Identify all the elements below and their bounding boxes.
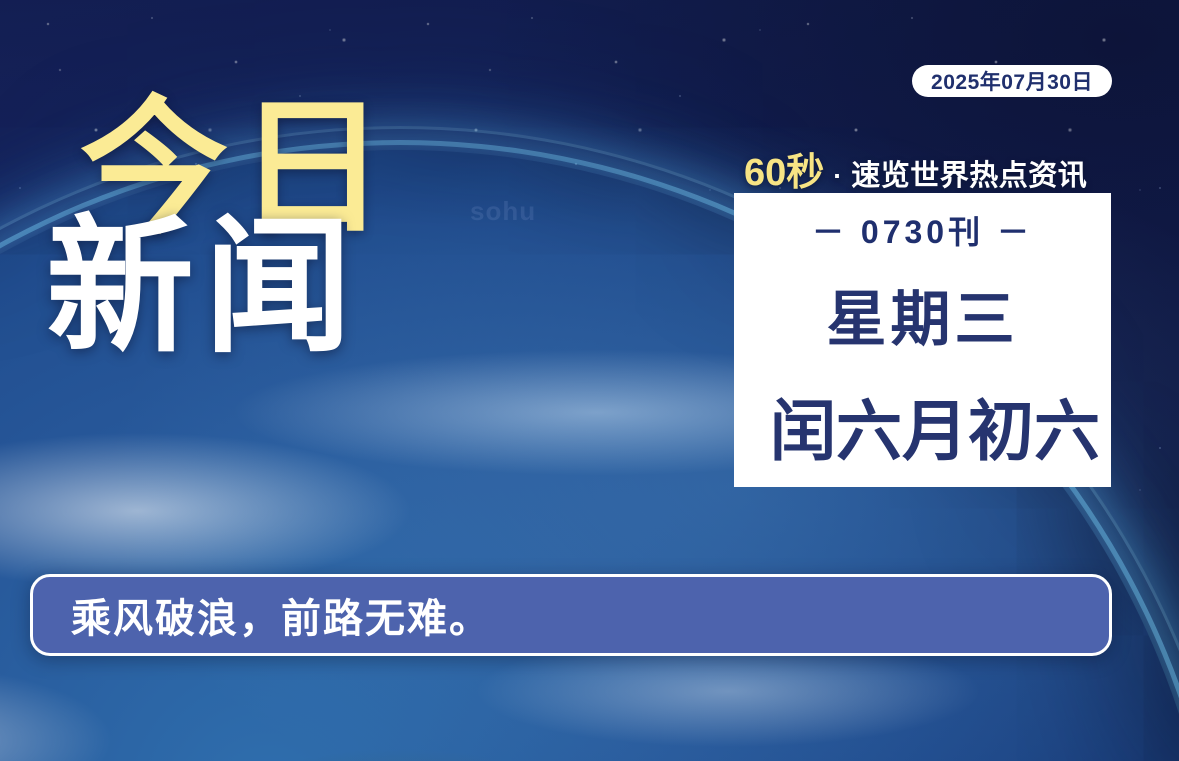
weekday-label: 星期三	[734, 271, 1111, 358]
issue-number: － 0730刊 －	[734, 207, 1111, 253]
tagline-description: 速览世界热点资讯	[851, 152, 1087, 194]
slogan-banner: 乘风破浪，前路无难。	[30, 574, 1112, 656]
tagline: 60秒 · 速览世界热点资讯	[744, 141, 1087, 196]
lunar-date-label: 闰六月初六	[770, 378, 1179, 474]
slogan-text: 乘风破浪，前路无难。	[71, 586, 491, 644]
news-poster: sohu 2025年07月30日 今日 新闻 60秒 · 速览世界热点资讯 － …	[0, 0, 1179, 761]
poster-content: 2025年07月30日 今日 新闻 60秒 · 速览世界热点资讯 － 0730刊…	[0, 0, 1179, 761]
date-badge: 2025年07月30日	[912, 65, 1112, 97]
date-badge-text: 2025年07月30日	[931, 66, 1093, 96]
tagline-separator: ·	[831, 161, 844, 192]
tagline-duration: 60秒	[744, 141, 824, 196]
page-title: 今日 新闻	[46, 96, 396, 360]
headline-line-news: 新闻	[46, 215, 396, 360]
